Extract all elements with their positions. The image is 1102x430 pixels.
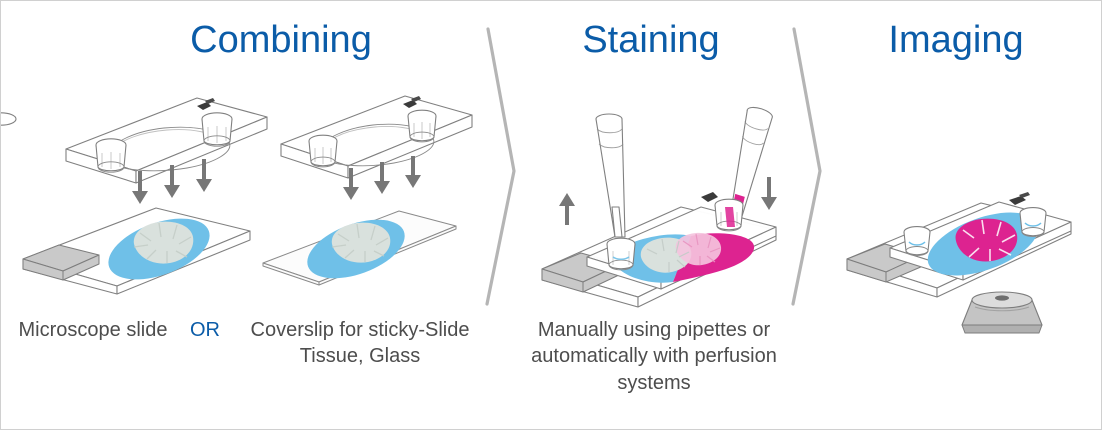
microscope-objective <box>962 292 1042 333</box>
reservoir-well <box>904 227 930 256</box>
assembly-right <box>263 96 472 290</box>
reservoir-well <box>309 135 337 167</box>
caption-microscope-slide: Microscope slide <box>9 317 177 343</box>
sticky-slide-right <box>281 96 472 178</box>
down-arrow <box>196 159 212 192</box>
sticky-slide-left <box>1 98 267 183</box>
assembly-left <box>1 98 267 294</box>
reservoir-well <box>607 238 635 270</box>
up-arrow <box>559 193 575 225</box>
reservoir-well <box>1020 208 1046 237</box>
reservoir-well <box>96 139 126 172</box>
panel-title-imaging: Imaging <box>831 19 1081 62</box>
staining-assembly <box>542 105 777 307</box>
workflow-figure: .ln { fill:none; stroke:#808080; stroke-… <box>0 0 1102 430</box>
microscope-slide <box>23 206 250 294</box>
objective-aperture <box>995 295 1009 300</box>
clip-marking <box>701 192 718 202</box>
coverslip <box>263 208 456 290</box>
down-arrow <box>761 177 777 210</box>
divider-chevron-2 <box>793 29 820 304</box>
imaging-assembly <box>847 192 1071 333</box>
divider-chevron-1 <box>487 29 514 304</box>
assembled-slide-imaging <box>847 192 1071 297</box>
caption-staining-method: Manually using pipettes or automatically… <box>509 317 799 396</box>
reservoir-well <box>408 110 436 142</box>
reservoir-well <box>715 199 743 231</box>
down-arrow <box>405 156 421 188</box>
panel-title-combining: Combining <box>121 19 441 62</box>
caption-coverslip: Coverslip for sticky-Slide Tissue, Glass <box>233 317 487 370</box>
caption-or: OR <box>177 317 233 343</box>
panel-title-staining: Staining <box>521 19 781 62</box>
